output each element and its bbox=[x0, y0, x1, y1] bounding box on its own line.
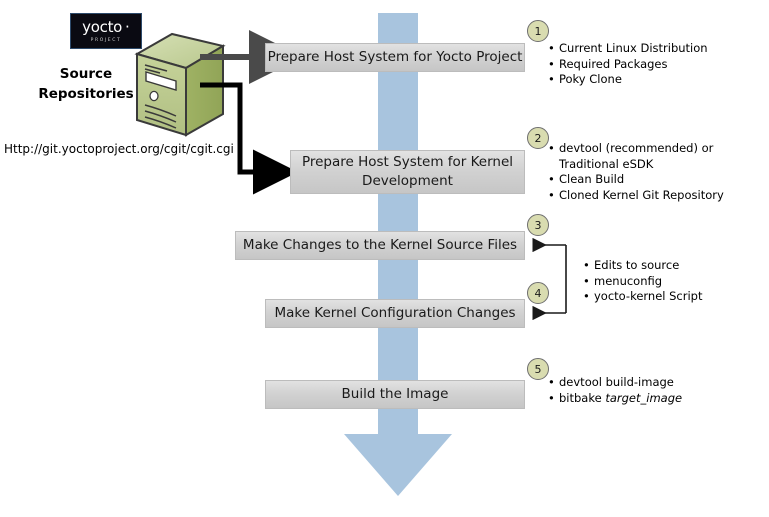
step-number-1: 1 bbox=[527, 20, 549, 42]
step-number-2: 2 bbox=[527, 127, 549, 149]
step-box-2[interactable]: Prepare Host System for Kernel Developme… bbox=[290, 150, 525, 194]
diagram-canvas: yocto · PROJECT Source Repositories Http… bbox=[0, 0, 769, 517]
source-repositories-label: Source Repositories bbox=[30, 64, 142, 104]
process-flow-spine bbox=[378, 13, 418, 436]
source-label-line1: Source bbox=[30, 64, 142, 84]
server-icon bbox=[134, 32, 226, 138]
step-bullets-5: devtool build-image bitbake target_image bbox=[548, 375, 682, 406]
step-bullets-1: Current Linux Distribution Required Pack… bbox=[548, 41, 708, 88]
process-flow-arrowhead bbox=[344, 434, 452, 496]
logo-dot-icon: · bbox=[125, 18, 130, 36]
bullet-item: bitbake target_image bbox=[548, 391, 682, 407]
bullet-item: Clean Build bbox=[548, 172, 724, 188]
bullet-item: Poky Clone bbox=[548, 72, 708, 88]
logo-subtitle: PROJECT bbox=[91, 37, 122, 44]
bullet-item: Current Linux Distribution bbox=[548, 41, 708, 57]
bullet-item: Edits to source bbox=[583, 258, 703, 274]
yocto-project-logo: yocto · PROJECT bbox=[70, 13, 142, 49]
logo-wordmark: yocto bbox=[82, 20, 122, 35]
bullet-item: devtool build-image bbox=[548, 375, 682, 391]
step-box-3[interactable]: Make Changes to the Kernel Source Files bbox=[235, 231, 525, 260]
bullet-item: Required Packages bbox=[548, 57, 708, 73]
source-label-line2: Repositories bbox=[30, 84, 142, 104]
step-box-5[interactable]: Build the Image bbox=[265, 380, 525, 409]
step-box-1[interactable]: Prepare Host System for Yocto Project bbox=[265, 43, 525, 72]
step-box-4[interactable]: Make Kernel Configuration Changes bbox=[265, 299, 525, 328]
bullet-item-continuation: Traditional eSDK bbox=[548, 157, 724, 173]
step-number-5: 5 bbox=[527, 358, 549, 380]
bullet-item: devtool (recommended) or bbox=[548, 141, 724, 157]
bullet-item: Cloned Kernel Git Repository bbox=[548, 188, 724, 204]
step-number-4: 4 bbox=[527, 282, 549, 304]
bullet-text: bitbake bbox=[559, 391, 605, 405]
step-number-3: 3 bbox=[527, 214, 549, 236]
bullet-text-italic: target_image bbox=[605, 391, 682, 405]
source-repositories-url: Http://git.yoctoproject.org/cgit/cgit.cg… bbox=[4, 142, 234, 156]
shared-bullets-steps-3-4: Edits to source menuconfig yocto-kernel … bbox=[583, 258, 703, 305]
bullet-item: menuconfig bbox=[583, 274, 703, 290]
bullet-item: yocto-kernel Script bbox=[583, 289, 703, 305]
step-bullets-2: devtool (recommended) or Traditional eSD… bbox=[548, 141, 724, 203]
